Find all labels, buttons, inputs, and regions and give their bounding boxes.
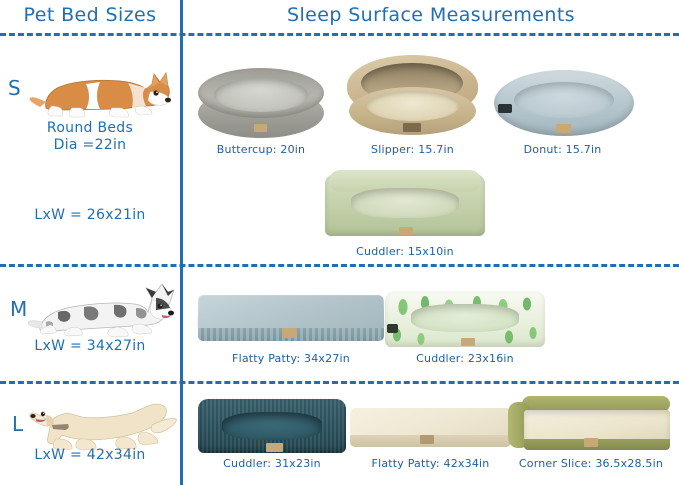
header-pet-bed-sizes: Pet Bed Sizes (0, 4, 180, 26)
caption-corner-slice: Corner Slice: 36.5x28.5in (505, 457, 677, 470)
caption-cuddler-large: Cuddler: 31x23in (198, 457, 346, 470)
product-image-cuddler-large (198, 397, 346, 455)
caption-cuddler-medium: Cuddler: 23x16in (385, 352, 545, 365)
caption-buttercup: Buttercup: 20in (186, 143, 336, 156)
small-lxw: LxW = 26x21in (0, 207, 180, 223)
medium-lxw: LxW = 34x27in (0, 338, 180, 354)
product-image-cuddler-small (325, 170, 485, 242)
size-letter-l: L (12, 412, 24, 436)
header-sleep-surface: Sleep Surface Measurements (183, 4, 679, 26)
product-image-donut (494, 60, 634, 140)
divider-medium-large (0, 381, 679, 384)
caption-flatty-patty-large: Flatty Patty: 42x34in (348, 457, 513, 470)
product-image-buttercup (196, 62, 326, 140)
large-lxw: LxW = 42x34in (0, 447, 180, 463)
product-image-flatty-patty-large (348, 408, 513, 455)
divider-vertical (180, 0, 183, 485)
caption-donut: Donut: 15.7in (490, 143, 635, 156)
divider-small-medium (0, 264, 679, 267)
caption-slipper: Slipper: 15.7in (340, 143, 485, 156)
product-image-flatty-patty-medium (196, 295, 386, 350)
dog-labrador (28, 393, 178, 455)
size-letter-s: S (8, 76, 21, 100)
small-round-beds-label: Round Beds (0, 120, 180, 136)
small-round-beds-dia: Dia =22in (0, 137, 180, 153)
caption-cuddler-small: Cuddler: 15x10in (325, 245, 485, 258)
pet-bed-size-chart: Pet Bed Sizes Sleep Surface Measurements… (0, 0, 679, 485)
product-image-slipper (345, 55, 480, 140)
dog-corgi (28, 62, 176, 120)
product-image-cuddler-medium (385, 288, 545, 350)
caption-flatty-patty-medium: Flatty Patty: 34x27in (196, 352, 386, 365)
product-image-corner-slice (508, 396, 670, 454)
size-letter-m: M (10, 297, 28, 321)
dog-border-collie (28, 278, 178, 340)
divider-header (0, 33, 679, 36)
